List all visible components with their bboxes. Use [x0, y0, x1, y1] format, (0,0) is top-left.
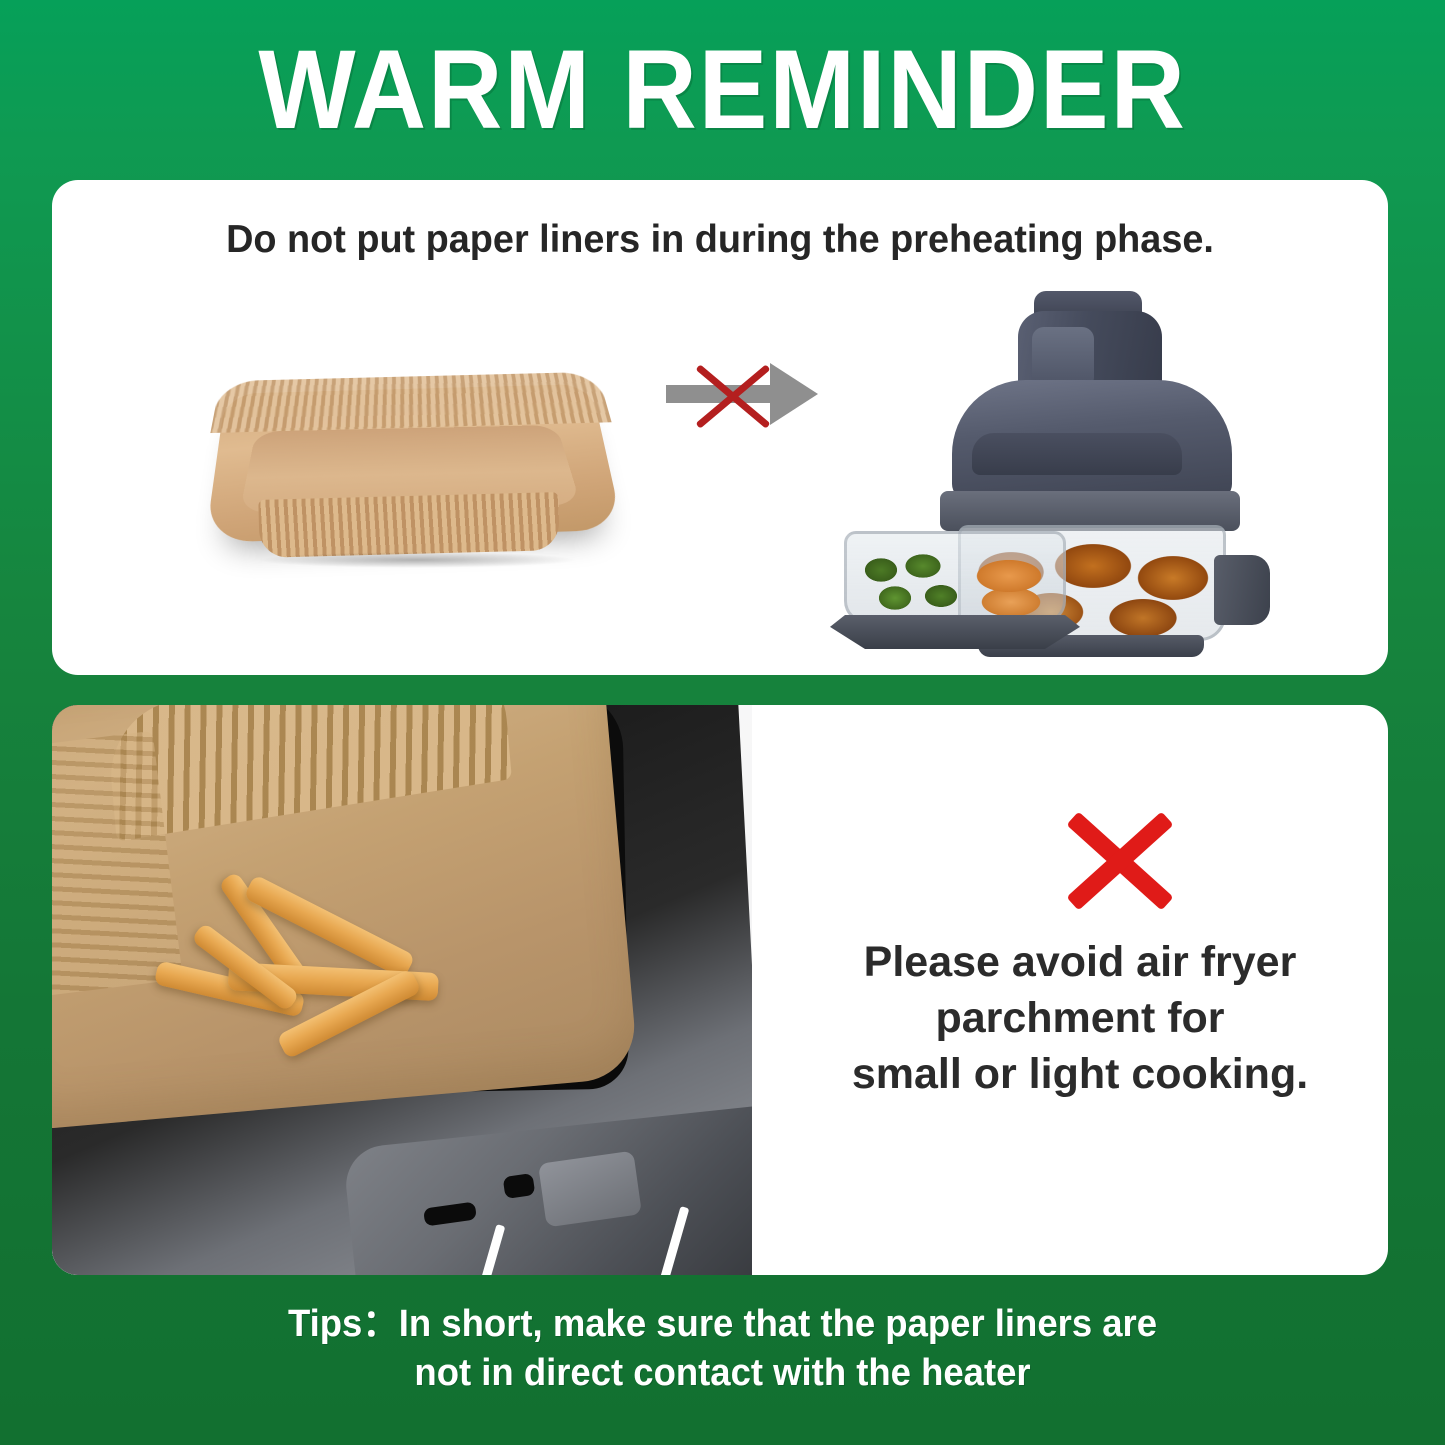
glass-food-container — [830, 531, 1080, 651]
air-fryer-basket-photo — [52, 705, 752, 1275]
appliance-dome-lip — [972, 433, 1182, 475]
arrow-head — [770, 363, 818, 425]
red-x-mark-icon — [1060, 805, 1180, 915]
tips-footer: Tips：In short, make sure that the paper … — [29, 1300, 1416, 1397]
arrow-with-x-icon — [652, 343, 832, 443]
red-x-overlay-icon — [690, 355, 776, 435]
preheating-warning-card: Do not put paper liners in during the pr… — [52, 180, 1388, 675]
preheating-illustration-row — [52, 295, 1388, 675]
appliance-handle — [1214, 555, 1270, 625]
basket-rail-plate — [538, 1151, 642, 1228]
light-cooking-warning-text: Please avoid air fryer parchment for sma… — [772, 935, 1388, 1103]
preheating-caption: Do not put paper liners in during the pr… — [72, 218, 1368, 262]
header-banner: WARM REMINDER — [0, 0, 1445, 180]
warning-line-1: Please avoid air fryer — [772, 935, 1388, 991]
broccoli-food — [857, 552, 961, 618]
light-cooking-warning-card: Please avoid air fryer parchment for sma… — [52, 705, 1388, 1275]
salmon-food — [963, 558, 1059, 616]
tips-line-2: not in direct contact with the heater — [29, 1349, 1416, 1398]
liner-front-pleats — [258, 492, 559, 558]
liner-drop-shadow — [257, 552, 577, 568]
tips-line-1: Tips：In short, make sure that the paper … — [29, 1300, 1416, 1349]
paper-liner-pleats-back — [105, 705, 511, 841]
warning-line-3: small or light cooking. — [772, 1047, 1388, 1103]
french-fries — [138, 890, 477, 1087]
glass-container-body — [844, 531, 1066, 623]
air-fryer-appliance-icon — [822, 285, 1292, 655]
paper-liner-tray-icon — [187, 320, 637, 585]
warning-line-2: parchment for — [772, 991, 1388, 1047]
page-title: WARM REMINDER — [258, 34, 1186, 146]
glass-container-tray — [830, 615, 1080, 649]
